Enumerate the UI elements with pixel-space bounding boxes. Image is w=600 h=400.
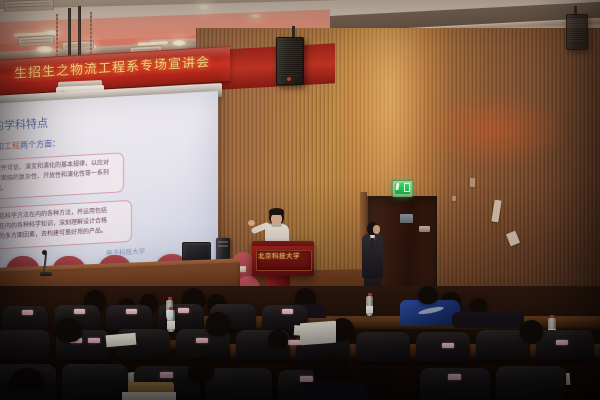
- downlight: [172, 40, 186, 46]
- presenter-collar: [271, 223, 282, 227]
- podium: 北京科技大学: [252, 246, 314, 276]
- auditorium-seat[interactable]: [356, 332, 410, 362]
- auditorium-seat[interactable]: [496, 366, 566, 400]
- audience-shoulders: [296, 382, 368, 400]
- auditorium-seat[interactable]: [0, 330, 50, 360]
- paper-sheet: [122, 392, 176, 400]
- auditorium-seat[interactable]: [420, 368, 490, 400]
- auditorium-seat[interactable]: [206, 368, 272, 400]
- auditorium-seat[interactable]: [536, 330, 594, 360]
- audience-head: [206, 312, 230, 336]
- seat-number-tag: [160, 372, 173, 378]
- table-microphone-base: [40, 272, 52, 276]
- hanging-loudspeaker: [276, 37, 304, 85]
- seat-number-tag: [442, 343, 454, 348]
- host-face: [373, 225, 380, 234]
- seat-number-tag: [126, 309, 137, 314]
- podium-plaque-text: 北京科技大学: [252, 250, 306, 260]
- audience-head: [418, 286, 438, 304]
- light-switch[interactable]: [419, 226, 430, 232]
- audience-head: [188, 360, 214, 382]
- auditorium-seat[interactable]: [62, 364, 128, 400]
- presenter-hand: [248, 220, 255, 226]
- seat-number-tag: [88, 338, 100, 343]
- laptop[interactable]: [300, 321, 336, 346]
- hanging-loudspeaker: [566, 14, 588, 50]
- presenter-hair: [269, 208, 284, 215]
- table-microphone-head: [42, 250, 47, 255]
- ceiling-vent: [4, 0, 54, 12]
- seat-number-tag: [282, 309, 293, 314]
- audience-head: [56, 318, 82, 342]
- seat-number-tag: [288, 340, 300, 345]
- exit-sign: [392, 180, 413, 197]
- lecture-hall-photo: 生招生之物流工程系专场宣讲会 EPSON 程的学科特点 科学和工程两个方面： 可…: [0, 0, 600, 400]
- water-bottle: [366, 296, 373, 316]
- downlight: [196, 4, 212, 11]
- wall-red-glow: [420, 90, 570, 170]
- downlight: [36, 46, 53, 53]
- exit-door-icon: [404, 183, 410, 192]
- led-banner-right-section: [215, 43, 335, 90]
- water-bottle: [167, 310, 175, 332]
- ceiling-vent: [18, 35, 54, 47]
- seat-number-tag: [556, 340, 568, 345]
- audience-dark-bag: [452, 312, 524, 328]
- audience-head: [520, 320, 543, 342]
- wall-patch: [452, 196, 456, 201]
- host-tie: [371, 238, 374, 249]
- audience-head: [268, 330, 288, 348]
- door-plate: [400, 214, 413, 223]
- downlight: [250, 14, 261, 18]
- seat-number-tag: [178, 308, 189, 313]
- wall-patch: [470, 178, 475, 187]
- seat-number-tag: [22, 310, 33, 315]
- seat-number-tag: [196, 338, 208, 343]
- audience-shoulders: [0, 390, 56, 400]
- seat-number-tag: [448, 374, 461, 380]
- seat-number-tag: [74, 309, 85, 314]
